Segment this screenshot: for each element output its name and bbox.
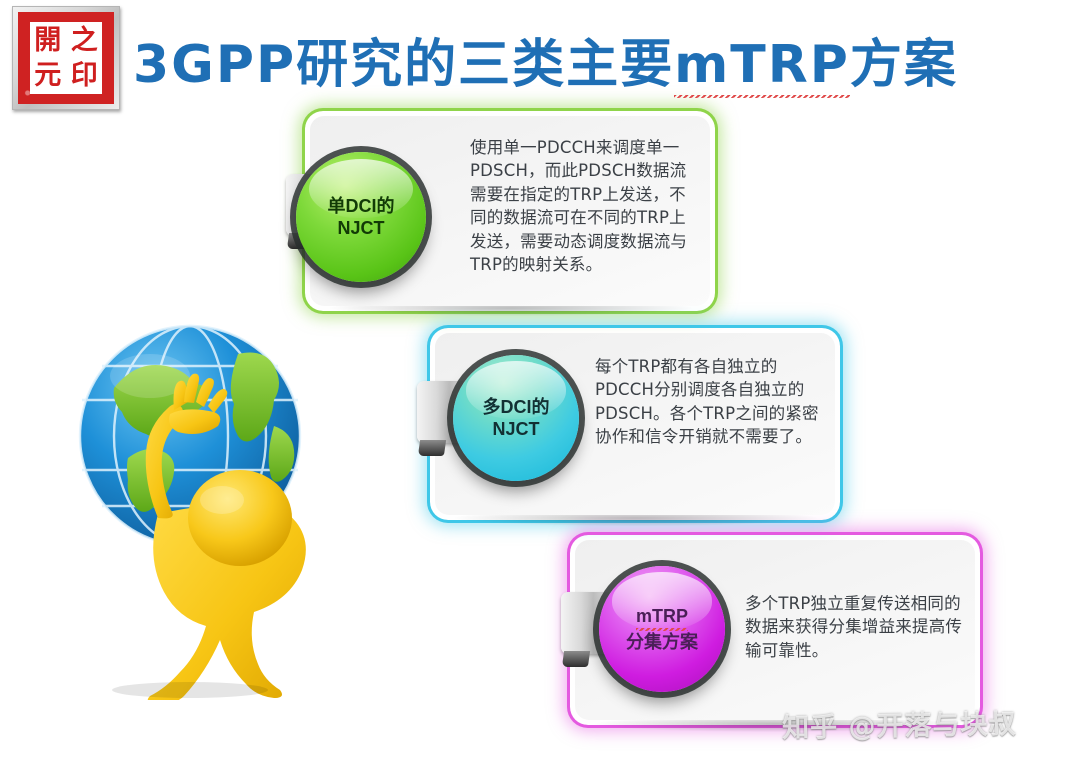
card-1-bubble[interactable]: 单DCI的 NJCT <box>296 152 426 282</box>
card-1-label-line1: 单DCI的 <box>328 195 395 218</box>
card-3-body-text: 多个TRP独立重复传送相同的数据来获得分集增益来提高传输可靠性。 <box>745 592 977 662</box>
card-2-body-text: 每个TRP都有各自独立的PDCCH分别调度各自独立的PDSCH。各个TRP之间的… <box>595 355 833 449</box>
card-1-body-text: 使用单一PDCCH来调度单一PDSCH，而此PDSCH数据流需要在指定的TRP上… <box>470 136 692 277</box>
card-2-label-line1: 多DCI的 <box>483 396 550 419</box>
card-mtrp-diversity[interactable]: mTRP 分集方案 多个TRP独立重复传送相同的数据来获得分集增益来提高传输可靠… <box>575 540 975 720</box>
card-single-dci-njct[interactable]: 单DCI的 NJCT 使用单一PDCCH来调度单一PDSCH，而此PDSCH数据… <box>310 116 710 306</box>
card-2-label-line2: NJCT <box>492 418 539 441</box>
seal-char-3: 印 <box>66 58 102 94</box>
seal-char-1: 之 <box>66 22 102 58</box>
card-2-bubble[interactable]: 多DCI的 NJCT <box>453 355 579 481</box>
seal-char-2: 開 <box>30 22 66 58</box>
card-3-label-line1: mTRP <box>636 605 688 631</box>
page-title-highlight: mTRP <box>674 35 850 98</box>
card-3-bubble[interactable]: mTRP 分集方案 <box>599 566 725 692</box>
kaiyuan-seal-logo: 之 開 印 元 <box>12 6 120 110</box>
page-title-main: 3GPP研究的三类主要 <box>133 35 674 95</box>
page-title: 3GPP研究的三类主要mTRP方案 <box>133 22 958 97</box>
atlas-globe-figure-icon <box>62 318 324 700</box>
card-3-label-line2: 分集方案 <box>626 631 698 654</box>
card-multi-dci-njct[interactable]: 多DCI的 NJCT 每个TRP都有各自独立的PDCCH分别调度各自独立的PDS… <box>435 333 835 515</box>
page-title-tail: 方案 <box>850 35 958 95</box>
watermark: 知乎 @开落与块叔 <box>782 702 1017 745</box>
slide-canvas: 之 開 印 元 3GPP研究的三类主要mTRP方案 <box>0 0 1080 762</box>
card-1-label-line2: NJCT <box>337 217 384 240</box>
seal-char-4: 元 <box>30 58 66 94</box>
seal-characters: 之 開 印 元 <box>30 22 103 94</box>
seal-inner: 之 開 印 元 <box>18 12 114 104</box>
